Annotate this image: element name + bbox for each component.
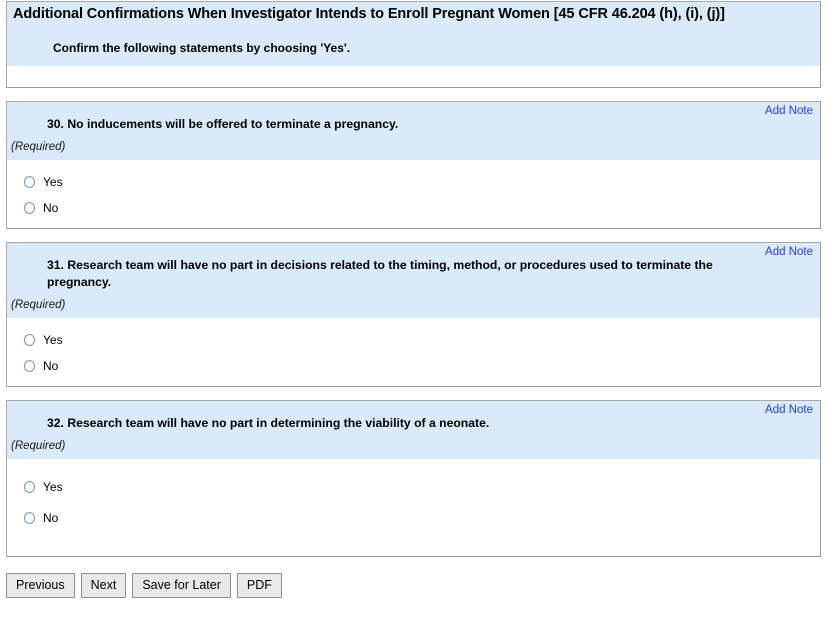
radio-icon[interactable] <box>24 334 35 346</box>
question-header-30: Add Note 30. No inducements will be offe… <box>7 102 820 160</box>
radio-option-yes[interactable]: Yes <box>7 329 820 350</box>
add-note-link[interactable]: Add Note <box>765 104 813 118</box>
question-header-32: Add Note 32. Research team will have no … <box>7 401 820 459</box>
radio-label-yes: Yes <box>43 175 63 189</box>
section-header-body: Additional Confirmations When Investigat… <box>7 2 820 66</box>
radio-icon[interactable] <box>24 202 35 214</box>
question-text: 30. No inducements will be offered to te… <box>7 102 820 133</box>
save-for-later-button[interactable]: Save for Later <box>132 573 231 598</box>
radio-option-yes[interactable]: Yes <box>7 476 820 497</box>
radio-option-no[interactable]: No <box>7 507 820 528</box>
question-text: 32. Research team will have no part in d… <box>7 401 820 432</box>
add-note-link[interactable]: Add Note <box>765 403 813 417</box>
radio-icon[interactable] <box>24 481 35 493</box>
section-instruction: Confirm the following statements by choo… <box>13 40 812 56</box>
radio-icon[interactable] <box>24 512 35 524</box>
radio-option-no[interactable]: No <box>7 355 820 376</box>
next-button[interactable]: Next <box>81 573 127 598</box>
radio-option-no[interactable]: No <box>7 197 820 218</box>
radio-icon[interactable] <box>24 176 35 188</box>
radio-label-yes: Yes <box>43 333 63 347</box>
required-indicator: (Required) <box>7 432 820 459</box>
radio-label-yes: Yes <box>43 480 63 494</box>
radio-label-no: No <box>43 511 58 525</box>
question-panel-31: Add Note 31. Research team will have no … <box>6 242 821 387</box>
form-page: Additional Confirmations When Investigat… <box>0 1 830 642</box>
answer-group-32: Yes No <box>7 459 820 556</box>
question-text: 31. Research team will have no part in d… <box>7 243 820 291</box>
add-note-link[interactable]: Add Note <box>765 245 813 259</box>
form-action-bar: Previous Next Save for Later PDF <box>0 570 830 598</box>
radio-label-no: No <box>43 359 58 373</box>
section-header-spacer <box>7 66 820 87</box>
question-panel-32: Add Note 32. Research team will have no … <box>6 400 821 557</box>
radio-option-yes[interactable]: Yes <box>7 171 820 192</box>
section-title: Additional Confirmations When Investigat… <box>13 5 812 24</box>
question-panel-30: Add Note 30. No inducements will be offe… <box>6 101 821 229</box>
radio-icon[interactable] <box>24 360 35 372</box>
section-header-panel: Additional Confirmations When Investigat… <box>6 1 821 88</box>
required-indicator: (Required) <box>7 133 820 160</box>
radio-label-no: No <box>43 201 58 215</box>
answer-group-30: Yes No <box>7 160 820 228</box>
pdf-button[interactable]: PDF <box>237 573 282 598</box>
question-header-31: Add Note 31. Research team will have no … <box>7 243 820 318</box>
previous-button[interactable]: Previous <box>6 573 75 598</box>
required-indicator: (Required) <box>7 291 820 318</box>
answer-group-31: Yes No <box>7 318 820 386</box>
